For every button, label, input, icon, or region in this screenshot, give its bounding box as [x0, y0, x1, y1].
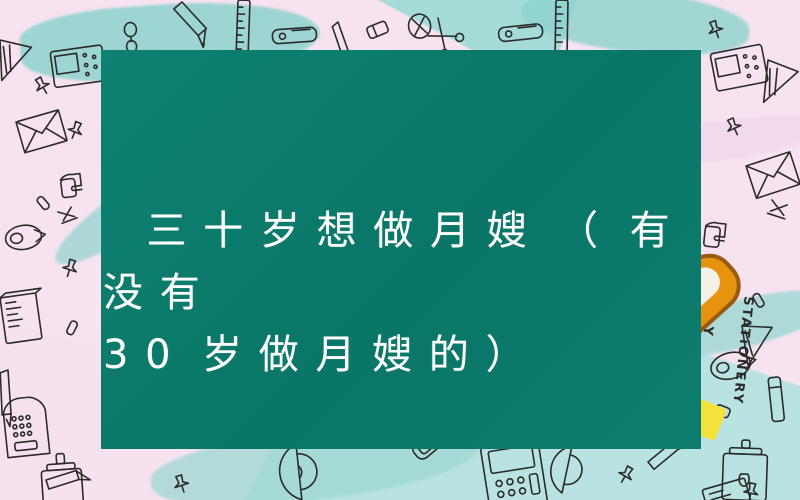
notebook-doodle	[702, 478, 754, 500]
eraser-doodle	[366, 21, 389, 40]
sharpener-doodle	[4, 222, 47, 251]
glue-bottle-doodle	[722, 439, 768, 500]
clip-doodle	[66, 320, 78, 336]
marker-doodle	[768, 377, 785, 422]
title-card-canvas: STATiONERY Y 三 十 岁 想 做 月 嫂 （ 有 没 有 3 0 岁…	[0, 0, 800, 500]
pushpin-doodle	[32, 75, 53, 97]
tape-dispenser-doodle	[60, 173, 83, 198]
pushpin-doodle	[724, 116, 744, 137]
pushpin-doodle	[66, 120, 85, 141]
pencil-doodle	[44, 459, 91, 500]
title-panel: 三 十 岁 想 做 月 嫂 （ 有 没 有 3 0 岁 做 月 嫂 的 ）	[101, 50, 701, 449]
envelope-doodle	[746, 152, 800, 199]
paint-palette-doodle	[710, 44, 768, 91]
pushpin-doodle	[616, 464, 637, 486]
glue-bottle-doodle	[40, 452, 84, 500]
page-title: 三 十 岁 想 做 月 嫂 （ 有 没 有 3 0 岁 做 月 嫂 的 ）	[101, 200, 701, 386]
triangle-ruler-doodle	[758, 60, 799, 108]
stapler-doodle	[498, 23, 543, 42]
protractor-doodle	[277, 442, 320, 500]
pencil-doodle	[164, 0, 217, 47]
clip-doodle	[36, 196, 50, 211]
notebook-doodle	[0, 288, 48, 343]
stationery-watermark-secondary: Y	[700, 325, 716, 336]
craft-knife-doodle	[0, 368, 35, 426]
envelope-doodle	[16, 110, 67, 153]
pushpin-doodle	[742, 482, 759, 500]
pushpin-doodle	[172, 474, 191, 494]
pushpin-doodle	[61, 258, 80, 278]
sharpener-doodle	[407, 12, 433, 39]
calculator-doodle	[2, 396, 50, 458]
pushpin-doodle	[706, 19, 725, 40]
ruler-doodle	[555, 0, 568, 54]
protractor-doodle	[546, 443, 586, 496]
stapler-doodle	[272, 27, 317, 44]
paint-palette-doodle	[50, 45, 107, 88]
ruler-doodle	[236, 0, 250, 54]
paperclip-doodle	[768, 200, 789, 219]
paperclip-doodle	[58, 207, 77, 224]
glue-bottle-doodle	[124, 22, 138, 53]
tape-dispenser-doodle	[703, 222, 725, 248]
triangle-ruler-doodle	[0, 40, 32, 83]
